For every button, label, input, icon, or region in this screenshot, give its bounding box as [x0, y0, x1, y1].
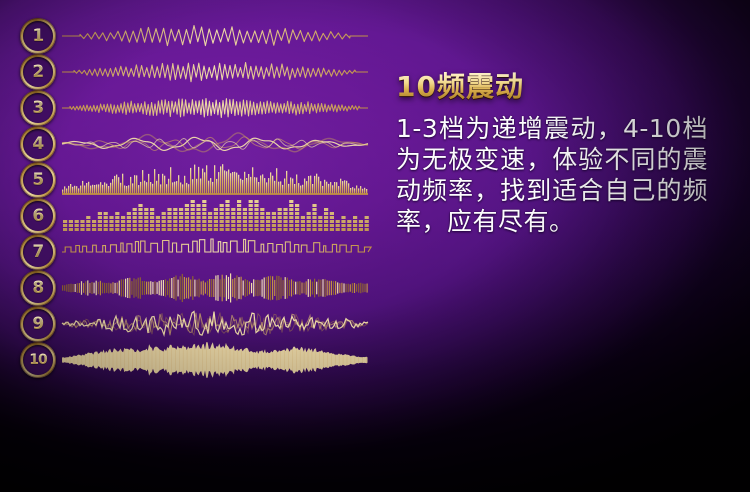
mode-number-label: 3 [32, 100, 43, 117]
mode-number-label: 6 [32, 208, 43, 225]
description-panel: 10频震动 1-3档为递增震动，4-10档为无极变速，体验不同的震动频率，找到适… [396, 72, 708, 237]
mode-number-label: 8 [32, 280, 43, 297]
vibration-mode-row: 3 [0, 90, 380, 126]
mode-number-label: 10 [29, 353, 46, 367]
vibration-mode-row: 9 [0, 306, 380, 342]
waveform-level-7 [62, 234, 368, 270]
page-title: 10频震动 [396, 72, 708, 101]
vibration-mode-row: 5 [0, 162, 380, 198]
waveform-level-1 [62, 18, 368, 54]
description-text: 1-3档为递增震动，4-10档为无极变速，体验不同的震动频率，找到适合自己的频率… [396, 113, 708, 237]
mode-number-badge-1: 1 [20, 18, 56, 54]
waveform-level-5 [62, 162, 368, 198]
mode-number-label: 1 [32, 28, 43, 45]
mode-number-badge-6: 6 [20, 198, 56, 234]
waveform-level-4 [62, 126, 368, 162]
mode-number-badge-7: 7 [20, 234, 56, 270]
mode-number-badge-5: 5 [20, 162, 56, 198]
mode-number-badge-3: 3 [20, 90, 56, 126]
vibration-mode-row: 10 [0, 342, 380, 378]
waveform-level-2 [62, 54, 368, 90]
mode-number-label: 7 [32, 244, 43, 261]
waveform-level-3 [62, 90, 368, 126]
mode-number-label: 4 [32, 136, 43, 153]
vibration-mode-row: 6 [0, 198, 380, 234]
mode-number-badge-9: 9 [20, 306, 56, 342]
mode-number-badge-4: 4 [20, 126, 56, 162]
mode-number-badge-2: 2 [20, 54, 56, 90]
mode-number-label: 9 [32, 316, 43, 333]
vibration-mode-list: 12345678910 [0, 0, 380, 400]
vibration-mode-row: 8 [0, 270, 380, 306]
waveform-level-8 [62, 270, 368, 306]
vibration-mode-row: 7 [0, 234, 380, 270]
vibration-mode-row: 2 [0, 54, 380, 90]
waveform-level-9 [62, 306, 368, 342]
vibration-mode-row: 1 [0, 18, 380, 54]
vibration-mode-row: 4 [0, 126, 380, 162]
promo-banner: 12345678910 10频震动 1-3档为递增震动，4-10档为无极变速，体… [0, 0, 750, 492]
mode-number-badge-8: 8 [20, 270, 56, 306]
waveform-level-6 [62, 198, 368, 234]
waveform-level-10 [62, 342, 368, 378]
mode-number-label: 2 [32, 64, 43, 81]
mode-number-label: 5 [32, 172, 43, 189]
mode-number-badge-10: 10 [20, 342, 56, 378]
